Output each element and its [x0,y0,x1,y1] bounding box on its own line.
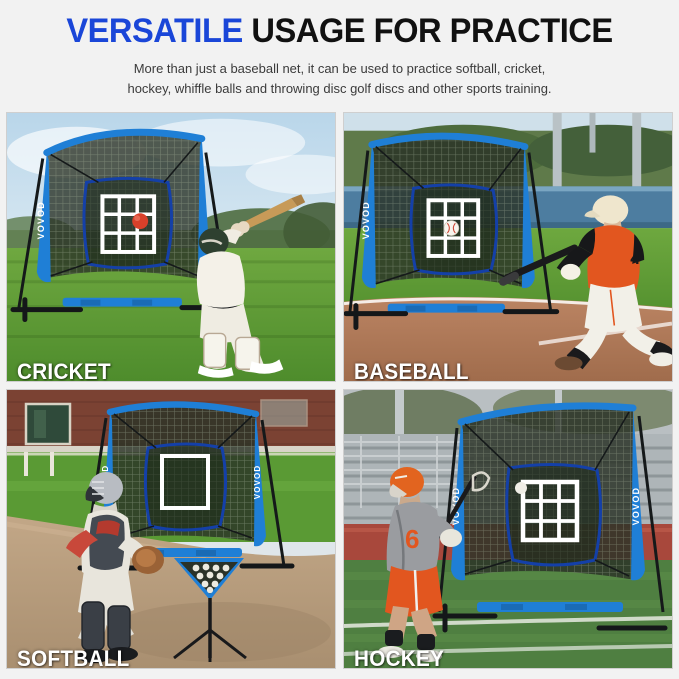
net-brand-logo-cricket: VOVOD [36,201,46,239]
batter-jersey-number: 4 [630,248,640,268]
batsman-pad-left [204,333,226,367]
batsman-shirt [197,251,245,307]
subtitle-line-2: hockey, whiffle balls and throwing disc … [15,79,664,99]
headline-accent: VERSATILE [66,12,242,50]
tile-cricket: VOVOD [6,112,336,382]
player-cleat-right [416,650,442,662]
tile-softball: VOVOD VOVOD [6,389,336,669]
header: VERSATILE USAGE FOR PRACTICE More than j… [0,0,679,100]
baseball-scene: VOVOD [344,113,672,381]
shin-guard-left [82,602,104,650]
tile-baseball: VOVOD [343,112,673,382]
softball-scene: VOVOD VOVOD [7,390,335,668]
tile-hockey: VOVOD VOVOD [343,389,673,669]
batting-glove [561,264,581,280]
subtitle-line-1: More than just a baseball net, it can be… [15,59,664,79]
hockey-ball [515,482,527,494]
infographic-page: VERSATILE USAGE FOR PRACTICE More than j… [0,0,679,679]
baseball-ball [444,221,459,236]
batter-helmet [592,195,628,225]
cricket-scene: VOVOD [7,113,335,381]
hockey-scene: VOVOD VOVOD [344,390,672,668]
player-cleat-left [378,646,404,658]
sport-tile-grid: VOVOD [6,112,673,669]
shin-guard-right [108,606,130,650]
player-glove [440,529,462,547]
net-brand-logo-hockey-right: VOVOD [631,487,641,526]
headline-rest: USAGE FOR PRACTICE [251,12,612,50]
net-brand-logo-softball-right: VOVOD [253,465,262,499]
player-jersey-number: 6 [405,524,419,554]
page-title: VERSATILE USAGE FOR PRACTICE [23,14,656,50]
batter-cleat-front [555,356,583,370]
page-subtitle: More than just a baseball net, it can be… [15,59,664,100]
